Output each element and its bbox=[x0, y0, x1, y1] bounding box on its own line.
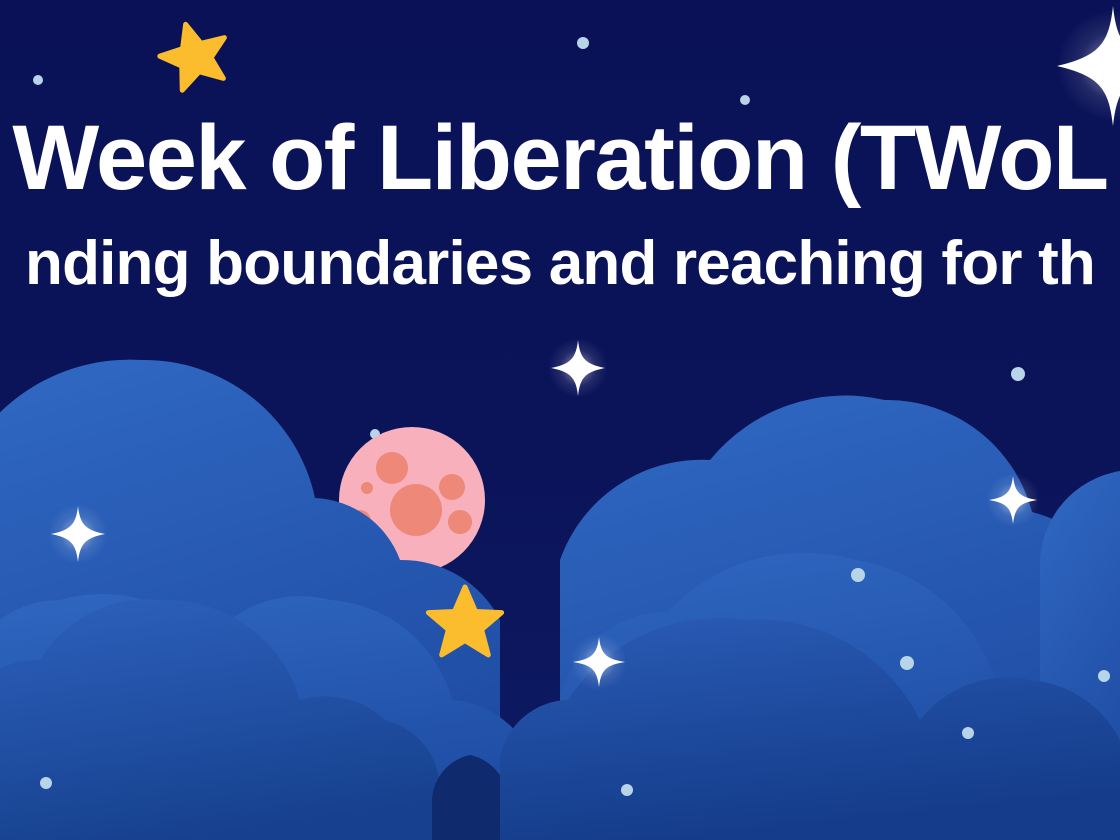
dot-icon bbox=[740, 95, 750, 105]
dot-icon bbox=[900, 656, 914, 670]
crater-icon bbox=[448, 510, 472, 534]
dot-icon bbox=[1011, 367, 1025, 381]
dot-icon bbox=[33, 75, 43, 85]
night-sky-banner: Week of Liberation (TWoL nding boundarie… bbox=[0, 0, 1120, 840]
sparkle-lower-center bbox=[571, 634, 627, 690]
sparkle-right bbox=[986, 473, 1040, 527]
crater-icon bbox=[439, 474, 465, 500]
dot-icon bbox=[40, 777, 52, 789]
crater-icon bbox=[376, 452, 408, 484]
dot-icon bbox=[621, 784, 633, 796]
dot-icon bbox=[577, 37, 589, 49]
dot-icon bbox=[962, 727, 974, 739]
dot-icon bbox=[851, 568, 865, 582]
crater-icon bbox=[361, 482, 373, 494]
scene-illustration bbox=[0, 0, 1120, 840]
sparkle-center bbox=[548, 338, 608, 398]
crater-icon bbox=[390, 484, 442, 536]
dot-icon bbox=[1098, 670, 1110, 682]
sparkle-left bbox=[48, 504, 108, 564]
